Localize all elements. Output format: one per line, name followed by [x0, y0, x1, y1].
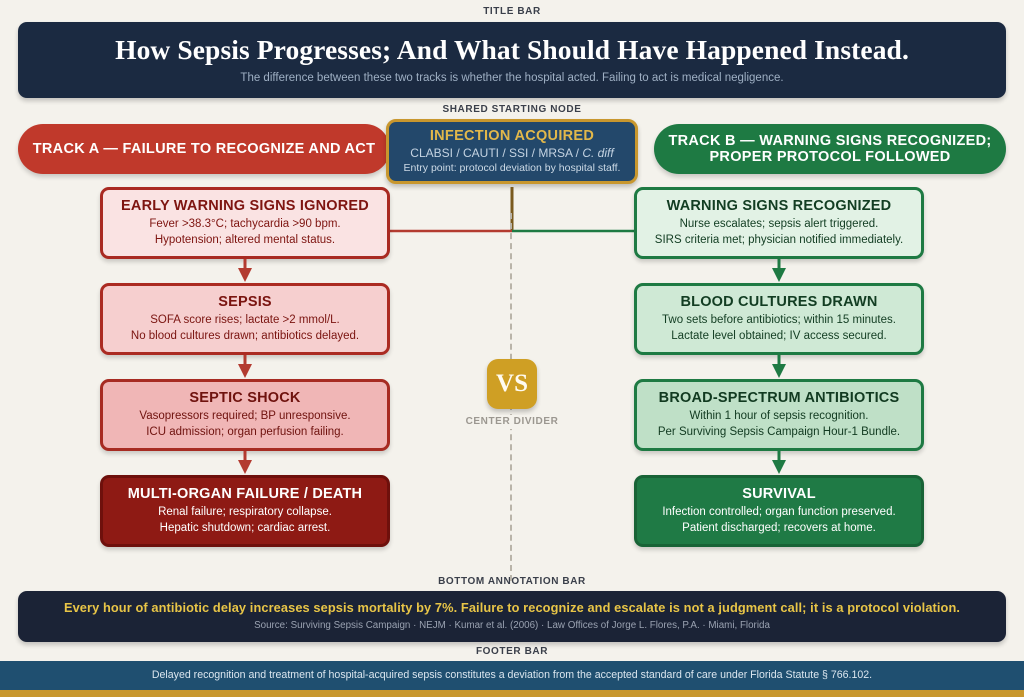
diagram-stage: VS CENTER DIVIDER EARLY WARNING SIGNS IG…: [18, 187, 1006, 573]
node-line-1: Infection controlled; organ function pre…: [645, 505, 913, 519]
node-title: MULTI-ORGAN FAILURE / DEATH: [111, 486, 379, 503]
track-b-column: WARNING SIGNS RECOGNIZED Nurse escalates…: [634, 187, 924, 547]
node-title: SEPTIC SHOCK: [111, 390, 379, 407]
footer-gold-strip: [0, 690, 1024, 697]
footer-bar: Delayed recognition and treatment of hos…: [0, 661, 1024, 691]
node-title: BLOOD CULTURES DRAWN: [645, 294, 913, 311]
node-title: SEPSIS: [111, 294, 379, 311]
connector-b-3: [634, 451, 924, 475]
annotation-source-text: Source: Surviving Sepsis Campaign · NEJM…: [36, 620, 988, 632]
node-line-2: Hepatic shutdown; cardiac arrest.: [111, 521, 379, 535]
node-line-1: SOFA score rises; lactate >2 mmol/L.: [111, 313, 379, 327]
track-a-node-1[interactable]: EARLY WARNING SIGNS IGNORED Fever >38.3°…: [100, 187, 390, 259]
start-node-title: INFECTION ACQUIRED: [397, 128, 627, 145]
page-title: How Sepsis Progresses; And What Should H…: [38, 35, 986, 66]
connector-b-2: [634, 355, 924, 379]
node-title: SURVIVAL: [645, 486, 913, 503]
connector-a-2: [100, 355, 390, 379]
node-line-2: No blood cultures drawn; antibiotics del…: [111, 329, 379, 343]
node-line-1: Fever >38.3°C; tachycardia >90 bpm.: [111, 217, 379, 231]
track-a-node-2[interactable]: SEPSIS SOFA score rises; lactate >2 mmol…: [100, 283, 390, 355]
node-line-2: Per Surviving Sepsis Campaign Hour-1 Bun…: [645, 425, 913, 439]
track-b-header[interactable]: TRACK B — WARNING SIGNS RECOGNIZED; PROP…: [654, 124, 1006, 174]
node-line-2: Hypotension; altered mental status.: [111, 233, 379, 247]
node-title: WARNING SIGNS RECOGNIZED: [645, 198, 913, 215]
connector-b-1: [634, 259, 924, 283]
track-a-column: EARLY WARNING SIGNS IGNORED Fever >38.3°…: [100, 187, 390, 547]
shared-starting-node-caption: SHARED STARTING NODE: [0, 98, 1024, 119]
node-line-2: Patient discharged; recovers at home.: [645, 521, 913, 535]
infection-types-text: CLABSI / CAUTI / SSI / MRSA /: [410, 146, 582, 160]
connector-a-3: [100, 451, 390, 475]
node-line-1: Vasopressors required; BP unresponsive.: [111, 409, 379, 423]
node-line-2: SIRS criteria met; physician notified im…: [645, 233, 913, 247]
node-line-1: Within 1 hour of sepsis recognition.: [645, 409, 913, 423]
footer-text: Delayed recognition and treatment of hos…: [20, 669, 1004, 682]
track-b-node-1[interactable]: WARNING SIGNS RECOGNIZED Nurse escalates…: [634, 187, 924, 259]
node-line-1: Two sets before antibiotics; within 15 m…: [645, 313, 913, 327]
connector-a-1: [100, 259, 390, 283]
node-title: EARLY WARNING SIGNS IGNORED: [111, 198, 379, 215]
page-subtitle: The difference between these two tracks …: [38, 72, 986, 85]
start-node-infection-types: CLABSI / CAUTI / SSI / MRSA / C. diff: [397, 147, 627, 161]
track-headers-row: TRACK A — FAILURE TO RECOGNIZE AND ACT T…: [18, 119, 1006, 187]
node-title: BROAD-SPECTRUM ANTIBIOTICS: [645, 390, 913, 407]
vs-badge: VS: [487, 359, 537, 409]
infection-types-italic: C. diff: [582, 146, 613, 160]
title-bar: How Sepsis Progresses; And What Should H…: [18, 22, 1006, 98]
center-divider-caption: CENTER DIVIDER: [412, 415, 612, 429]
track-b-node-3[interactable]: BROAD-SPECTRUM ANTIBIOTICS Within 1 hour…: [634, 379, 924, 451]
start-node-infection-acquired[interactable]: INFECTION ACQUIRED CLABSI / CAUTI / SSI …: [386, 119, 638, 184]
start-node-entry-point: Entry point: protocol deviation by hospi…: [397, 162, 627, 174]
track-a-header[interactable]: TRACK A — FAILURE TO RECOGNIZE AND ACT: [18, 124, 390, 174]
title-bar-caption: TITLE BAR: [0, 0, 1024, 22]
track-a-node-3[interactable]: SEPTIC SHOCK Vasopressors required; BP u…: [100, 379, 390, 451]
node-line-2: ICU admission; organ perfusion failing.: [111, 425, 379, 439]
track-a-node-4[interactable]: MULTI-ORGAN FAILURE / DEATH Renal failur…: [100, 475, 390, 547]
track-b-node-4[interactable]: SURVIVAL Infection controlled; organ fun…: [634, 475, 924, 547]
footer-bar-caption: FOOTER BAR: [0, 642, 1024, 661]
track-b-node-2[interactable]: BLOOD CULTURES DRAWN Two sets before ant…: [634, 283, 924, 355]
bottom-annotation-bar: Every hour of antibiotic delay increases…: [18, 591, 1006, 641]
node-line-1: Nurse escalates; sepsis alert triggered.: [645, 217, 913, 231]
annotation-main-text: Every hour of antibiotic delay increases…: [36, 600, 988, 615]
node-line-2: Lactate level obtained; IV access secure…: [645, 329, 913, 343]
node-line-1: Renal failure; respiratory collapse.: [111, 505, 379, 519]
